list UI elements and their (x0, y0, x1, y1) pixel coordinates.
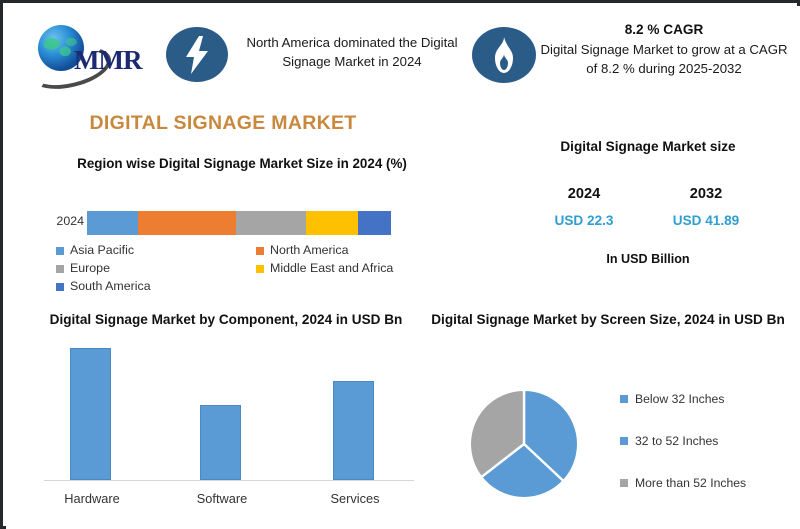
market-size-base-value: USD 22.3 (532, 213, 636, 228)
component-bar (70, 348, 111, 480)
region-legend-label: Middle East and Africa (270, 260, 393, 277)
logo-text: MMR (74, 45, 141, 76)
region-bar-segment (138, 211, 236, 235)
region-legend-item: South America (56, 278, 256, 295)
screensize-legend-item: Below 32 Inches (620, 378, 800, 420)
screensize-chart-title: Digital Signage Market by Screen Size, 2… (428, 310, 788, 330)
region-bar-segment (236, 211, 306, 235)
screensize-pie-chart (467, 387, 581, 501)
region-legend-item: North America (256, 242, 456, 259)
market-size-unit-note: In USD Billion (508, 252, 788, 266)
lightning-bolt-icon (166, 27, 228, 82)
legend-swatch-icon (256, 247, 264, 255)
screensize-legend-item: 32 to 52 Inches (620, 420, 800, 462)
legend-swatch-icon (56, 265, 64, 273)
component-bar (200, 405, 241, 480)
cagr-block: 8.2 % CAGR Digital Signage Market to gro… (540, 20, 788, 78)
market-size-forecast-value: USD 41.89 (652, 213, 760, 228)
cagr-value: 8.2 % CAGR (540, 20, 788, 40)
component-chart-axis (44, 480, 414, 481)
legend-swatch-icon (56, 247, 64, 255)
infographic-inner-border: MMR North America dominated the Digital … (6, 6, 800, 529)
component-chart-plot (44, 338, 414, 480)
component-bar-label: Services (300, 491, 410, 506)
market-size-base-year: 2024 (538, 186, 630, 202)
region-chart-category-label: 2024 (42, 214, 84, 228)
legend-swatch-icon (620, 395, 628, 403)
screensize-chart-legend: Below 32 Inches32 to 52 InchesMore than … (620, 378, 800, 504)
component-bar-label: Hardware (37, 491, 147, 506)
legend-swatch-icon (256, 265, 264, 273)
screensize-legend-label: Below 32 Inches (635, 392, 724, 406)
region-legend-item: Asia Pacific (56, 242, 256, 259)
region-chart-legend: Asia PacificNorth AmericaEuropeMiddle Ea… (56, 242, 456, 295)
legend-swatch-icon (56, 283, 64, 291)
region-bar-segment (306, 211, 358, 235)
component-bar-label: Software (167, 491, 277, 506)
region-chart-title: Region wise Digital Signage Market Size … (44, 154, 440, 174)
flame-icon (472, 27, 536, 83)
component-chart-title: Digital Signage Market by Component, 202… (30, 310, 422, 330)
infographic-frame: MMR North America dominated the Digital … (0, 0, 800, 529)
page-title: DIGITAL SIGNAGE MARKET (8, 112, 438, 135)
mmr-logo: MMR (30, 19, 152, 85)
region-stacked-bar (87, 211, 391, 235)
cagr-description: Digital Signage Market to grow at a CAGR… (540, 40, 788, 78)
region-bar-segment (358, 211, 391, 235)
screensize-legend-item: More than 52 Inches (620, 462, 800, 504)
market-size-title: Digital Signage Market size (508, 136, 788, 157)
screensize-legend-label: 32 to 52 Inches (635, 434, 718, 448)
market-size-forecast-year: 2032 (658, 186, 754, 202)
header-highlight-text: North America dominated the Digital Sign… (238, 33, 466, 71)
region-legend-item: Middle East and Africa (256, 260, 456, 277)
legend-swatch-icon (620, 437, 628, 445)
region-legend-label: Europe (70, 260, 110, 277)
region-legend-label: Asia Pacific (70, 242, 134, 259)
legend-swatch-icon (620, 479, 628, 487)
region-legend-item: Europe (56, 260, 256, 277)
screensize-legend-label: More than 52 Inches (635, 476, 746, 490)
header: MMR North America dominated the Digital … (22, 13, 788, 91)
component-bar (333, 381, 374, 480)
region-legend-label: North America (270, 242, 349, 259)
region-legend-label: South America (70, 278, 151, 295)
region-bar-segment (87, 211, 138, 235)
